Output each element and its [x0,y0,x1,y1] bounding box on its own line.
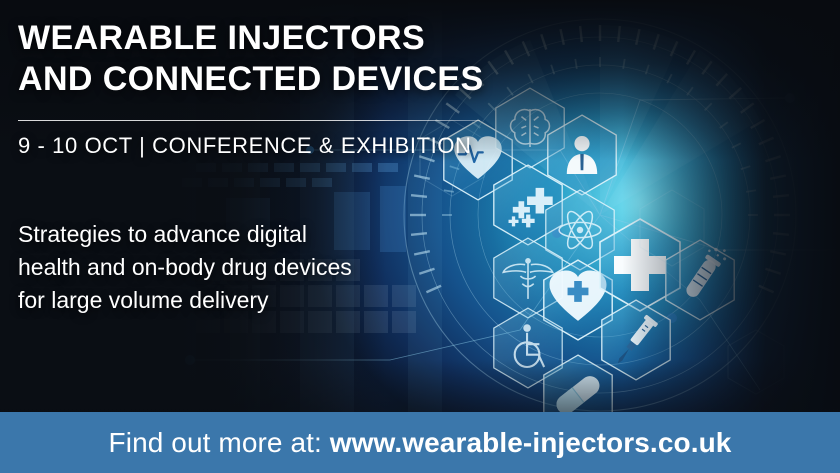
footer-bar: Find out more at: www.wearable-injectors… [0,412,840,473]
event-promo-banner: WEARABLE INJECTORS AND CONNECTED DEVICES… [0,0,840,473]
footer-text: Find out more at: www.wearable-injectors… [109,427,732,459]
event-title-line2: AND CONNECTED DEVICES [18,59,538,100]
event-description-line1: Strategies to advance digital [18,218,458,251]
footer-url-link[interactable]: www.wearable-injectors.co.uk [330,427,732,458]
title-divider [18,120,480,121]
event-description-line2: health and on-body drug devices [18,251,458,284]
event-title-line1: WEARABLE INJECTORS [18,19,425,57]
banner-content: WEARABLE INJECTORS AND CONNECTED DEVICES… [0,0,840,473]
footer-cta-label: Find out more at: [109,427,330,458]
event-description-line3: for large volume delivery [18,284,458,317]
event-dates-format: 9 - 10 OCT | CONFERENCE & EXHIBITION [18,133,472,159]
event-title: WEARABLE INJECTORS AND CONNECTED DEVICES [18,18,538,101]
event-description: Strategies to advance digital health and… [18,218,458,317]
